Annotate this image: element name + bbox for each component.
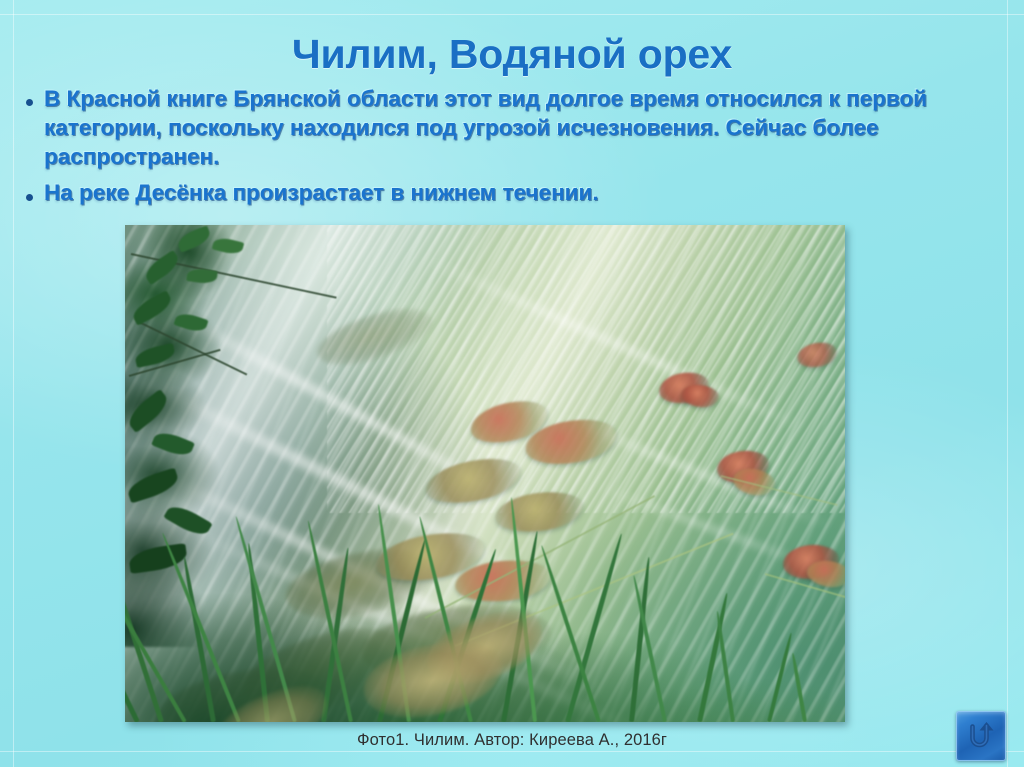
list-item: На реке Десёнка произрастает в нижнем те… <box>14 179 986 206</box>
list-item: В Красной книге Брянской области этот ви… <box>14 84 986 171</box>
slide-frame-line-bottom <box>0 751 1024 752</box>
bullet-dot-icon <box>14 84 44 109</box>
bullet-text: В Красной книге Брянской области этот ви… <box>44 84 986 171</box>
photo-chilim-river <box>125 225 845 722</box>
slide-title: Чилим, Водяной орех <box>0 31 1024 79</box>
bullet-dot-icon <box>14 179 44 204</box>
bullet-list: В Красной книге Брянской области этот ви… <box>14 84 986 208</box>
photo-canvas <box>125 225 845 722</box>
slide-frame-line-right <box>1007 0 1008 767</box>
slide-frame-line-top <box>0 14 1024 15</box>
photo-caption: Фото1. Чилим. Автор: Киреева А., 2016г <box>0 731 1024 750</box>
u-turn-arrow-icon <box>964 719 998 753</box>
u-turn-arrow-button[interactable] <box>956 711 1006 761</box>
presentation-slide: Чилим, Водяной орех В Красной книге Брян… <box>0 0 1024 767</box>
bullet-text: На реке Десёнка произрастает в нижнем те… <box>44 179 986 206</box>
